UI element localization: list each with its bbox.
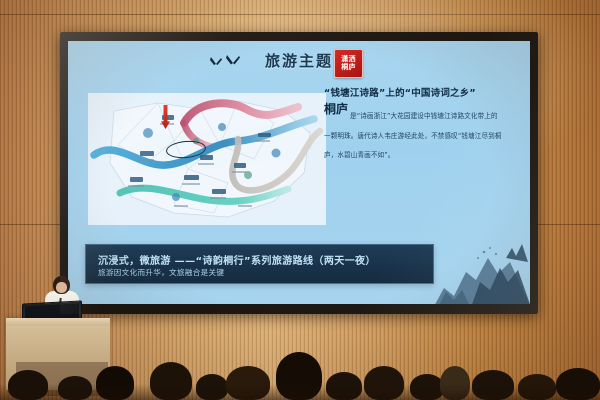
audience-head	[518, 374, 556, 400]
body-lead-word: 桐庐	[324, 103, 348, 115]
body-paragraph: 是“诗画浙江”大花园建设中钱塘江诗路文化带上的一颗明珠。唐代诗人韦庄游经此处，不…	[324, 112, 502, 159]
audience-head	[472, 370, 514, 400]
slide-headline: “钱塘江诗路”上的“中国诗词之乡”	[324, 85, 504, 99]
audience-head	[58, 376, 92, 400]
podium-top-surface	[6, 318, 110, 326]
audience-head	[556, 368, 600, 400]
seal-line-2: 桐庐	[341, 64, 356, 71]
flying-birds-icon	[208, 53, 248, 71]
ribbon-line-1: 沉浸式，微旅游 ——“诗韵桐行”系列旅游路线（两天一夜）	[98, 252, 376, 267]
projection-screen-frame: 旅游主题	[60, 32, 538, 314]
presentation-slide: 旅游主题	[68, 41, 530, 304]
audience-head	[196, 374, 228, 400]
projection-screen: 旅游主题	[68, 41, 530, 304]
tourism-route-map	[88, 93, 326, 225]
ribbon-line-2: 旅游因文化而升华，文旅融合是关键	[98, 267, 224, 278]
audience-heads	[0, 348, 600, 400]
audience-head	[276, 352, 322, 400]
ink-wash-mountain-illustration	[414, 218, 530, 304]
audience-head	[96, 366, 134, 400]
slide-highlight-ribbon: 沉浸式，微旅游 ——“诗韵桐行”系列旅游路线（两天一夜） 旅游因文化而升华，文旅…	[85, 244, 434, 284]
audience-head	[364, 366, 404, 400]
audience-head	[150, 362, 192, 400]
presenter-face	[56, 282, 67, 293]
wall-seam-top	[0, 14, 600, 15]
audience-head	[440, 366, 470, 400]
map-graphic	[88, 93, 326, 225]
slide-body: 桐庐 是“诗画浙江”大花园建设中钱塘江诗路文化带上的一颗明珠。唐代诗人韦庄游经此…	[324, 103, 502, 162]
xiaosa-tonglu-seal: 潇洒 桐庐	[334, 49, 363, 78]
slide-title: 旅游主题	[265, 50, 333, 71]
audience-head	[226, 366, 270, 400]
audience-head	[326, 372, 362, 400]
audience-head	[8, 370, 48, 400]
audience-head	[410, 374, 444, 400]
lecture-hall-photo: 旅游主题	[0, 0, 600, 400]
